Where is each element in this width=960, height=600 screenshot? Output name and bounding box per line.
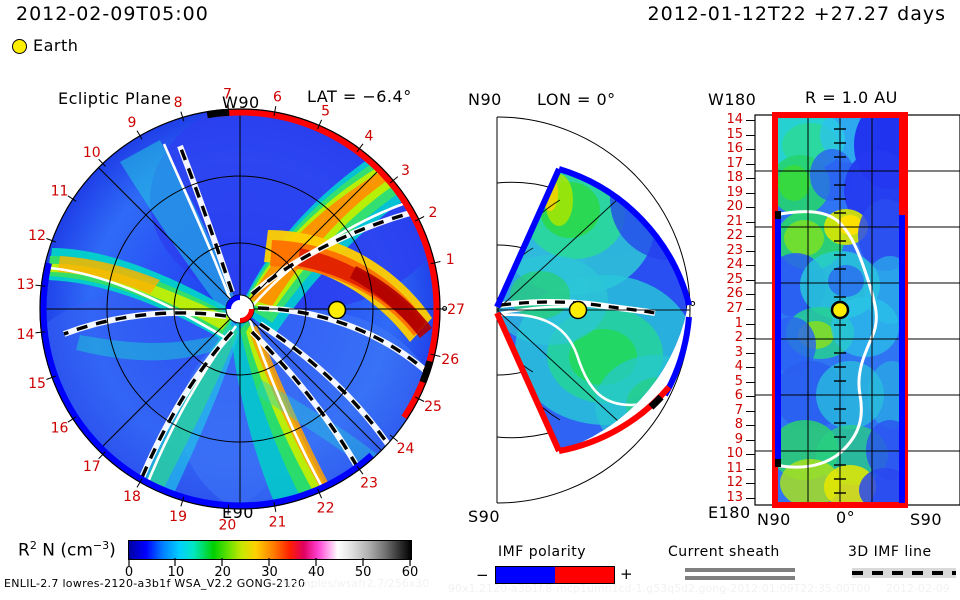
colorbar-label-exp2: −3 (93, 539, 109, 552)
watermark-left: examples/wsafr2.7/256x30 (280, 578, 429, 589)
meridional-density-field (475, 105, 705, 515)
earth-marker-timeline[interactable] (832, 302, 848, 318)
watermark-right: 2012-02-09 (886, 583, 950, 594)
imf-polarity-minus: − (476, 568, 489, 583)
imf-polarity-positive-swatch (555, 567, 614, 583)
polarity-boundary-marker-timeline-b (775, 459, 781, 467)
sun-marker (226, 295, 254, 323)
colorbar-ticks (128, 558, 412, 568)
earth-marker-meridional[interactable] (570, 302, 587, 319)
colorbar-label-close: ) (109, 541, 116, 561)
colorbar-label-exp: 2 (30, 539, 37, 552)
ecliptic-plane-plot[interactable] (0, 80, 460, 530)
polarity-boundary-marker-meridional (651, 397, 661, 407)
imf-line-legend-title: 3D IMF line (848, 545, 932, 559)
imf-line-legend-swatch (852, 566, 956, 580)
watermark-mid: 90x1.2120-a3b1f.8-mcp1umn1cd-1.g53q5d2.g… (448, 583, 870, 594)
imf-polarity-legend-title: IMF polarity (498, 545, 586, 559)
imf-polarity-negative-swatch (496, 567, 555, 583)
meridional-plane-plot[interactable] (455, 105, 705, 515)
earth-dot-icon (12, 39, 27, 54)
colorbar-label-rest: N (cm (37, 541, 93, 561)
colorbar-label: R2 N (cm−3) (18, 540, 116, 560)
earth-marker-ecliptic[interactable] (329, 302, 346, 319)
one-au-timeline-plot[interactable] (700, 105, 960, 515)
earth-legend-label: Earth (33, 38, 78, 54)
current-sheath-legend-swatch (685, 566, 795, 582)
colorbar (128, 540, 412, 560)
left-datetime: 2012-02-09T05:00 (16, 5, 209, 24)
right-datetime: 2012-01-12T22 +27.27 days (648, 5, 946, 24)
colorbar-label-r: R (18, 541, 30, 561)
polarity-boundary-marker-timeline-a (775, 211, 781, 219)
current-sheath-legend-title: Current sheath (668, 545, 780, 559)
imf-polarity-plus: + (620, 567, 633, 582)
timeline-panel-title: R = 1.0 AU (805, 90, 898, 106)
model-id-footer: ENLIL-2.7 lowres-2120-a3b1f WSA_V2.2 GON… (4, 578, 305, 589)
earth-legend: Earth (12, 38, 78, 54)
